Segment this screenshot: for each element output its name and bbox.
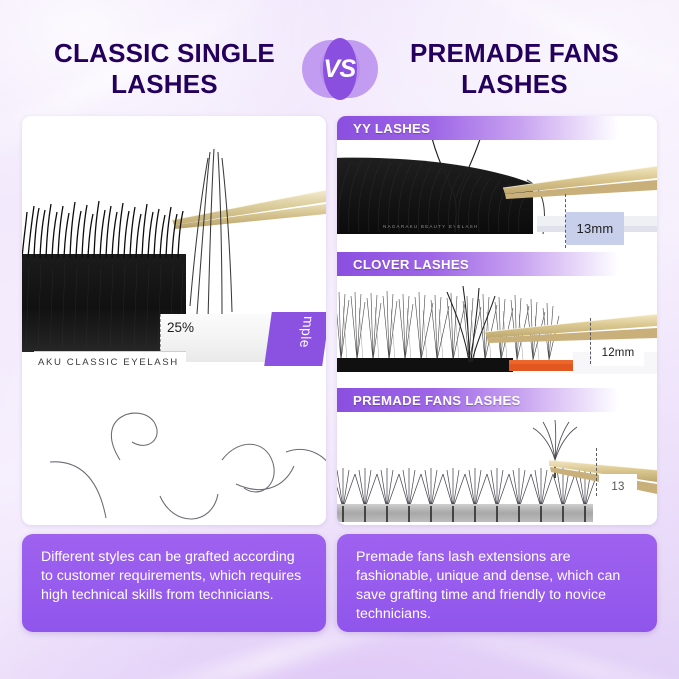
svg-text:NAGARAKU BEAUTY EYELASH: NAGARAKU BEAUTY EYELASH: [383, 224, 478, 229]
comparison-infographic: CLASSIC SINGLE LASHES VS PREMADE FANS LA…: [0, 0, 679, 679]
measure-badge-premade: 13: [599, 474, 637, 500]
measure-badge-yy: 13mm: [566, 212, 624, 245]
section-yy-lashes: YY LASHES: [337, 116, 657, 252]
vs-badge: VS: [302, 38, 378, 100]
section-header-premade: PREMADE FANS LASHES: [337, 388, 657, 412]
premade-fans-artwork: [337, 412, 657, 525]
section-header-clover: CLOVER LASHES: [337, 252, 657, 276]
brand-label: AKU CLASSIC EYELASH: [34, 357, 179, 368]
percent-label: 25%: [167, 320, 194, 335]
classic-single-lashes-panel: 25% AKU CLASSIC EYELASH mple: [22, 116, 326, 525]
header: CLASSIC SINGLE LASHES VS PREMADE FANS LA…: [0, 28, 679, 110]
premade-fans-lashes-panel: YY LASHES: [337, 116, 657, 525]
measure-tick: [590, 318, 591, 364]
section-body-yy: NAGARAKU BEAUTY EYELASH 13mm: [337, 140, 657, 252]
left-caption: Different styles can be grafted accordin…: [22, 534, 326, 632]
sample-tag: mple: [264, 312, 326, 366]
section-body-clover: 12mm: [337, 276, 657, 388]
measure-badge-clover: 12mm: [592, 340, 644, 366]
vs-label: VS: [302, 38, 378, 100]
brand-strip: AKU CLASSIC EYELASH: [34, 351, 186, 373]
section-premade-fans: PREMADE FANS LASHES: [337, 388, 657, 525]
section-title: PREMADE FANS LASHES: [337, 393, 521, 408]
section-clover-lashes: CLOVER LASHES: [337, 252, 657, 388]
measure-tick: [596, 448, 597, 496]
section-title: CLOVER LASHES: [337, 257, 469, 272]
right-title: PREMADE FANS LASHES: [384, 38, 646, 99]
sample-tag-label: mple: [297, 316, 317, 348]
section-title: YY LASHES: [337, 121, 430, 136]
right-caption: Premade fans lash extensions are fashion…: [337, 534, 657, 632]
clover-lashes-artwork: [337, 276, 657, 388]
section-body-premade: 13: [337, 412, 657, 525]
left-title: CLASSIC SINGLE LASHES: [34, 38, 296, 99]
section-header-yy: YY LASHES: [337, 116, 657, 140]
